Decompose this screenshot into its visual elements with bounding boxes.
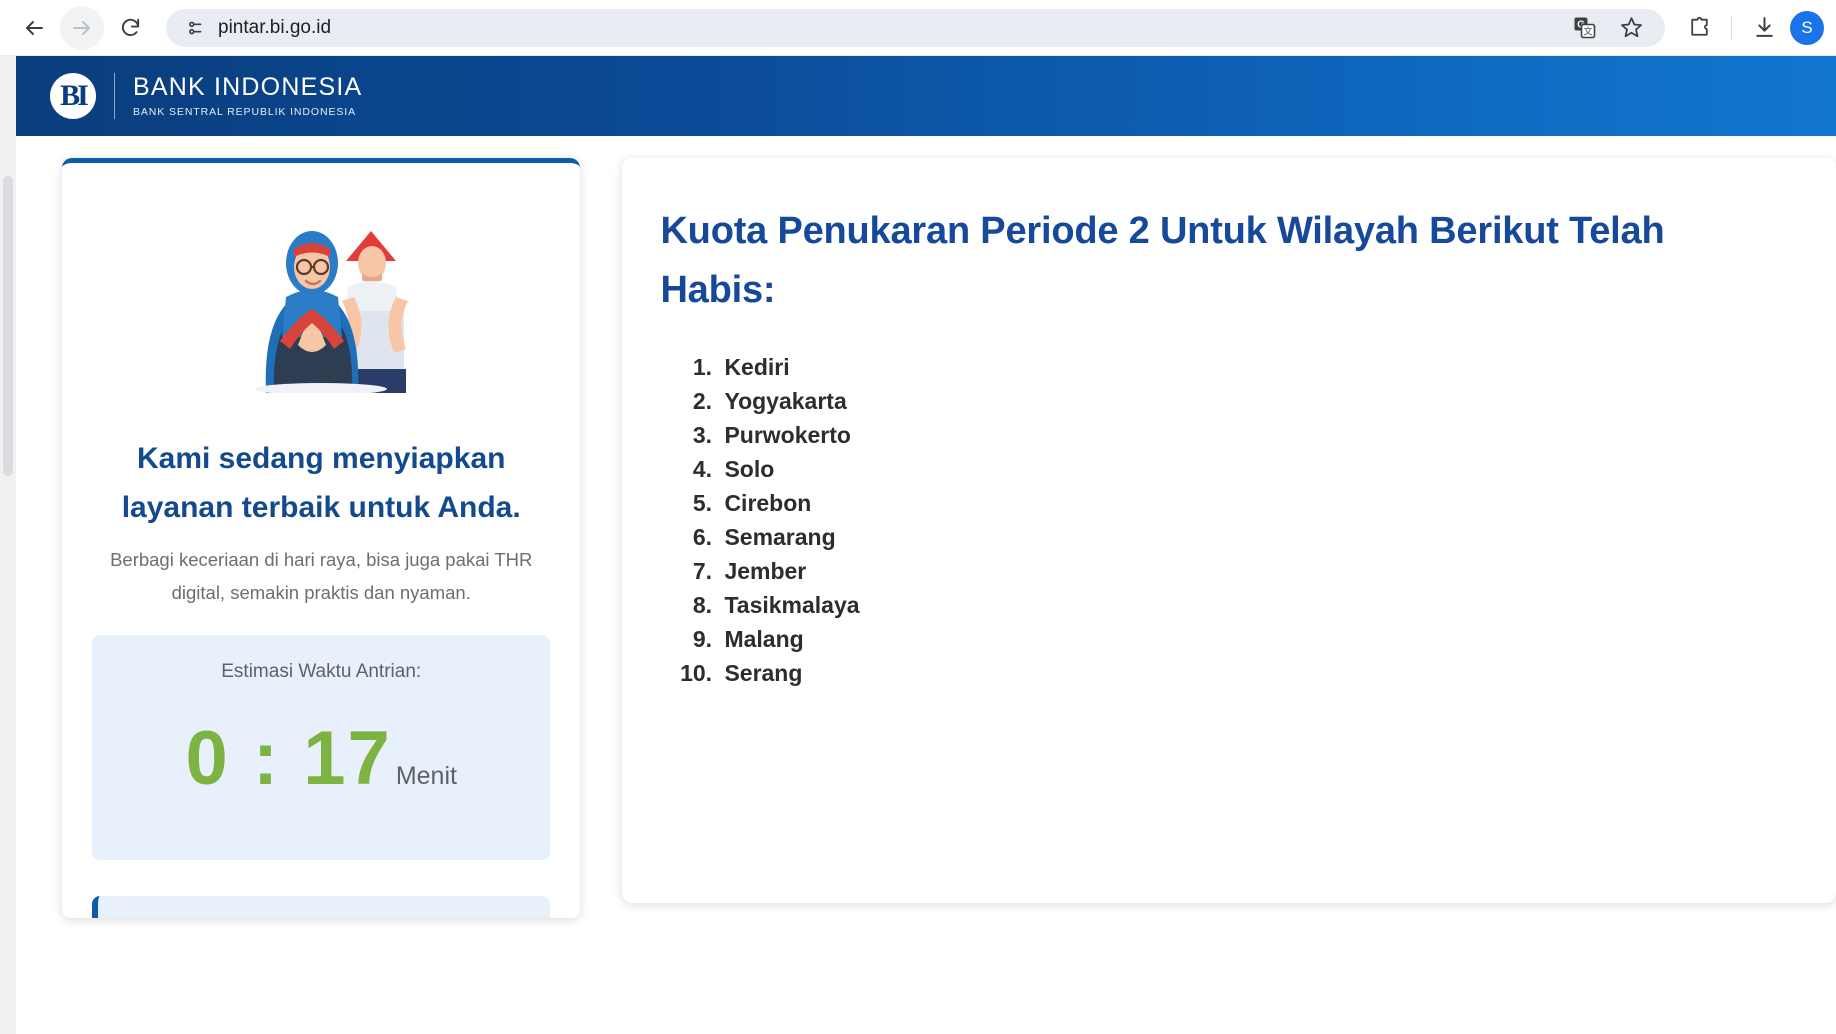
bank-indonesia-logo: BI BANK INDONESIA BANK SENTRAL REPUBLIK … bbox=[50, 73, 362, 119]
queue-timer-value: 0 : 17 bbox=[185, 721, 391, 797]
list-item: Serang bbox=[718, 656, 1786, 690]
site-title: BANK INDONESIA bbox=[133, 74, 362, 102]
logo-divider bbox=[114, 73, 115, 119]
list-item: Semarang bbox=[718, 520, 1786, 554]
page-scrollbar[interactable] bbox=[0, 56, 16, 1034]
queue-card-title: Kami sedang menyiapkan layanan terbaik u… bbox=[88, 435, 554, 532]
list-item: Kediri bbox=[718, 350, 1786, 384]
omnibox-actions: G 文 bbox=[1565, 8, 1651, 48]
translate-icon[interactable]: G 文 bbox=[1565, 8, 1605, 48]
list-item: Jember bbox=[718, 554, 1786, 588]
reload-icon bbox=[119, 16, 142, 39]
address-bar[interactable]: pintar.bi.go.id G 文 bbox=[166, 9, 1665, 47]
list-item: Purwokerto bbox=[718, 418, 1786, 452]
queue-card-footer-strip bbox=[92, 896, 550, 918]
toolbar-divider bbox=[1731, 16, 1732, 40]
list-item: Solo bbox=[718, 452, 1786, 486]
downloads-icon[interactable] bbox=[1744, 8, 1784, 48]
forward-button[interactable] bbox=[60, 6, 104, 50]
extensions-puzzle-icon[interactable] bbox=[1679, 8, 1719, 48]
url-text[interactable]: pintar.bi.go.id bbox=[218, 17, 331, 39]
queue-timer: 0 : 17 Menit bbox=[102, 721, 540, 797]
queue-card-description: Berbagi keceriaan di hari raya, bisa jug… bbox=[88, 544, 554, 609]
queue-estimate-label: Estimasi Waktu Antrian: bbox=[102, 661, 540, 683]
quota-info-card: Kuota Penukaran Periode 2 Untuk Wilayah … bbox=[622, 158, 1836, 903]
quota-info-title: Kuota Penukaran Periode 2 Untuk Wilayah … bbox=[660, 202, 1786, 320]
back-arrow-icon bbox=[22, 16, 46, 40]
site-header: BI BANK INDONESIA BANK SENTRAL REPUBLIK … bbox=[16, 56, 1836, 136]
queue-timer-unit: Menit bbox=[396, 762, 457, 791]
list-item: Malang bbox=[718, 622, 1786, 656]
reload-button[interactable] bbox=[108, 6, 152, 50]
browser-toolbar: pintar.bi.go.id G 文 bbox=[0, 0, 1836, 56]
list-item: Tasikmalaya bbox=[718, 588, 1786, 622]
browser-toolbar-right: S bbox=[1673, 8, 1824, 48]
list-item: Yogyakarta bbox=[718, 384, 1786, 418]
site-header-text: BANK INDONESIA BANK SENTRAL REPUBLIK IND… bbox=[133, 74, 362, 118]
profile-avatar[interactable]: S bbox=[1790, 11, 1824, 45]
queue-estimate-box: Estimasi Waktu Antrian: 0 : 17 Menit bbox=[92, 635, 550, 860]
main-content: Kami sedang menyiapkan layanan terbaik u… bbox=[0, 136, 1836, 918]
page-viewport: BI BANK INDONESIA BANK SENTRAL REPUBLIK … bbox=[0, 56, 1836, 1034]
bookmark-star-icon[interactable] bbox=[1611, 8, 1651, 48]
site-settings-icon[interactable] bbox=[180, 13, 210, 43]
sold-out-region-list: Kediri Yogyakarta Purwokerto Solo Cirebo… bbox=[718, 350, 1786, 690]
svg-text:文: 文 bbox=[1583, 25, 1592, 36]
scrollbar-thumb[interactable] bbox=[3, 176, 13, 476]
site-subtitle: BANK SENTRAL REPUBLIK INDONESIA bbox=[133, 106, 362, 118]
list-item: Cirebon bbox=[718, 486, 1786, 520]
forward-arrow-icon bbox=[70, 16, 94, 40]
bank-indonesia-seal-icon: BI bbox=[50, 73, 96, 119]
queue-card: Kami sedang menyiapkan layanan terbaik u… bbox=[62, 158, 580, 918]
two-people-greeting-illustration bbox=[228, 201, 414, 393]
back-button[interactable] bbox=[12, 6, 56, 50]
